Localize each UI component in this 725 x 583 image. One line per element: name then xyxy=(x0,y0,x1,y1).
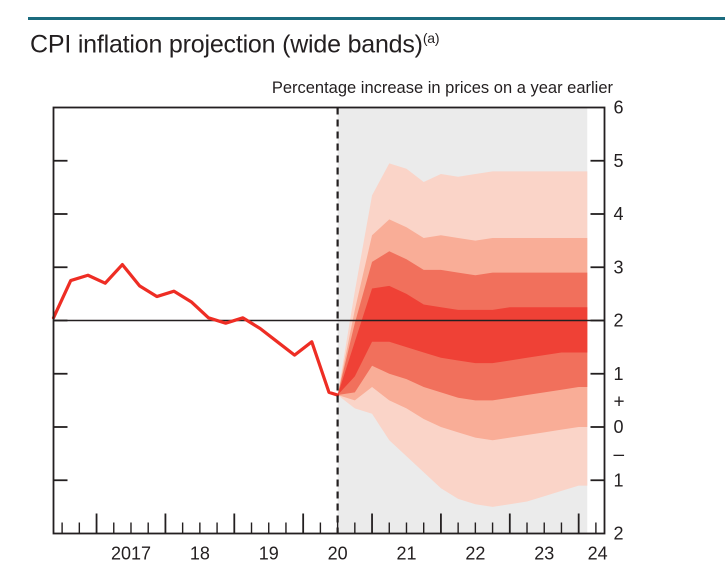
x-axis-label: 20 xyxy=(328,544,348,564)
x-axis-label: 23 xyxy=(534,544,554,564)
y-axis-label: 0 xyxy=(614,417,624,437)
y-axis-plus-sign: + xyxy=(614,391,625,412)
y-axis-label: 4 xyxy=(614,204,624,224)
y-axis-label: 1 xyxy=(614,470,624,490)
x-axis-label: 18 xyxy=(190,544,210,564)
fan-chart-svg: 654321012+– 201718192021222324 xyxy=(0,0,725,583)
x-axis-label: 2017 xyxy=(111,544,151,564)
y-axis-labels: 654321012+– xyxy=(614,98,625,544)
y-axis-label: 3 xyxy=(614,257,624,277)
y-axis-label: 1 xyxy=(614,364,624,384)
y-axis-minus-sign: – xyxy=(614,445,625,466)
history-line xyxy=(54,265,338,395)
y-axis-label: 6 xyxy=(614,98,624,118)
x-axis-labels: 201718192021222324 xyxy=(111,544,608,564)
x-axis-label: 22 xyxy=(465,544,485,564)
x-axis-label: 24 xyxy=(588,544,608,564)
y-axis-label: 2 xyxy=(614,311,624,331)
fan-chart: 654321012+– 201718192021222324 xyxy=(0,0,725,583)
y-axis-label: 2 xyxy=(614,524,624,544)
x-axis-label: 21 xyxy=(396,544,416,564)
x-axis-label: 19 xyxy=(259,544,279,564)
y-axis-label: 5 xyxy=(614,151,624,171)
cpi-history-polyline xyxy=(54,265,338,395)
